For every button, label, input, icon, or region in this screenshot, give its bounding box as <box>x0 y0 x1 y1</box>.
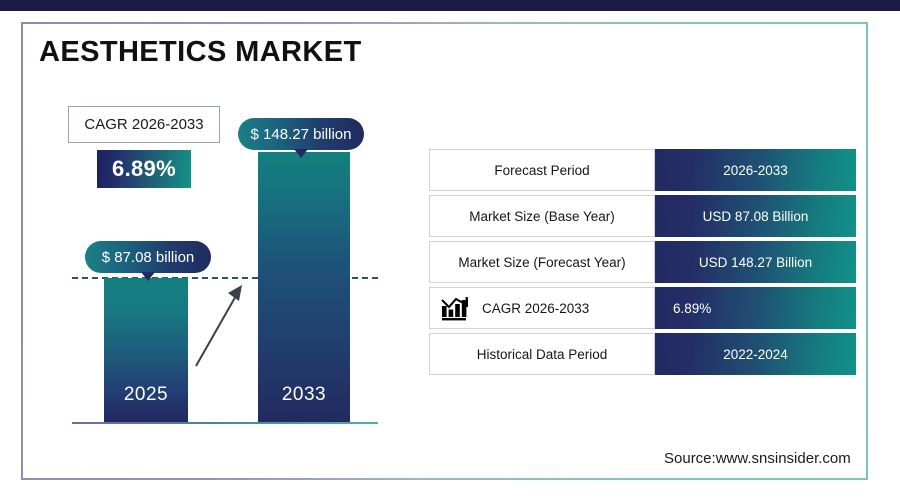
x-axis-line <box>72 422 378 424</box>
value-pill-2033: $ 148.27 billion <box>238 118 364 150</box>
value-pill-2033-text: $ 148.27 billion <box>251 126 352 143</box>
spec-table: Forecast Period 2026-2033 Market Size (B… <box>429 149 856 379</box>
spec-value-text: 2026-2033 <box>723 163 788 178</box>
bar-label-2025: 2025 <box>104 384 188 406</box>
spec-key-cell: Forecast Period <box>429 149 655 191</box>
spec-key-text: Market Size (Forecast Year) <box>458 255 625 270</box>
spec-value-cell: 2026-2033 <box>655 149 856 191</box>
spec-value-cell: 2022-2024 <box>655 333 856 375</box>
table-row: Market Size (Forecast Year) USD 148.27 B… <box>429 241 856 283</box>
infographic-root: AESTHETICS MARKET CAGR 2026-2033 6.89% 2… <box>0 0 900 500</box>
spec-value-cell: USD 148.27 Billion <box>655 241 856 283</box>
spec-key-text: Historical Data Period <box>477 347 608 362</box>
bar-label-2033: 2033 <box>258 384 350 406</box>
spec-key-cell: Market Size (Forecast Year) <box>429 241 655 283</box>
top-accent-bar <box>0 0 900 11</box>
source-attribution: Source:www.snsinsider.com <box>664 450 851 467</box>
spec-key-cell: CAGR 2026-2033 <box>429 287 655 329</box>
spec-value-text: 6.89% <box>673 301 711 316</box>
bar-2033: 2033 <box>258 152 350 422</box>
table-row: CAGR 2026-2033 6.89% <box>429 287 856 329</box>
page-title: AESTHETICS MARKET <box>39 36 362 69</box>
value-pill-2025-text: $ 87.08 billion <box>102 249 195 266</box>
table-row: Market Size (Base Year) USD 87.08 Billio… <box>429 195 856 237</box>
spec-value-cell: 6.89% <box>655 287 856 329</box>
value-pill-2025: $ 87.08 billion <box>85 241 211 273</box>
bar-chart: 2025 2033 $ 148.27 billion $ 87.08 billi… <box>60 110 400 430</box>
growth-arrow-icon <box>190 280 250 372</box>
spec-value-text: 2022-2024 <box>723 347 788 362</box>
spec-key-text: Market Size (Base Year) <box>469 209 615 224</box>
bar-chart-trend-icon <box>440 295 474 321</box>
bar-2025: 2025 <box>104 278 188 422</box>
spec-key-cell: Market Size (Base Year) <box>429 195 655 237</box>
spec-value-text: USD 148.27 Billion <box>699 255 812 270</box>
spec-value-cell: USD 87.08 Billion <box>655 195 856 237</box>
table-row: Forecast Period 2026-2033 <box>429 149 856 191</box>
spec-key-cell: Historical Data Period <box>429 333 655 375</box>
table-row: Historical Data Period 2022-2024 <box>429 333 856 375</box>
spec-key-text: Forecast Period <box>494 163 589 178</box>
spec-value-text: USD 87.08 Billion <box>703 209 809 224</box>
spec-key-text: CAGR 2026-2033 <box>482 301 589 316</box>
